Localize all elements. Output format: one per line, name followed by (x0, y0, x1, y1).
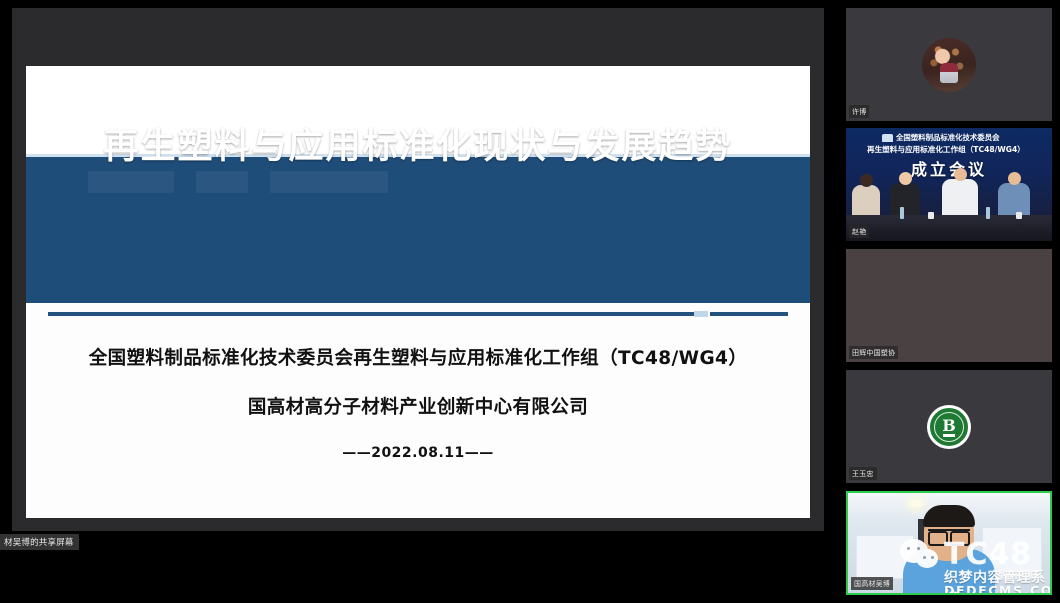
wechat-dot (907, 547, 910, 550)
room-banner-line2: 再生塑料与应用标准化工作组（TC48/WG4） (867, 144, 1025, 155)
slide-subtitle-line2: 国高材高分子材料产业创新中心有限公司 (26, 393, 810, 419)
participant-name: 赵艳 (849, 225, 869, 238)
participant-tile-1[interactable]: 全国塑料制品标准化技术委员会 再生塑料与应用标准化工作组（TC48/WG4） 成… (846, 128, 1052, 241)
band-decoration (270, 171, 388, 193)
band-decoration (88, 171, 174, 193)
participant-tile-4-active-speaker[interactable]: TC48 织梦内容管理系统 DEDECMS.COM 国高材吴博 (846, 491, 1052, 595)
slide-subtitle-line1: 全国塑料制品标准化技术委员会再生塑料与应用标准化工作组（TC48/WG4） (26, 344, 810, 370)
wechat-icon (900, 539, 940, 571)
shared-screen-content[interactable]: 再生塑料与应用标准化现状与发展趋势 全国塑料制品标准化技术委员会再生塑料与应用标… (12, 8, 824, 531)
committee-emblem-icon (882, 134, 893, 142)
divider-gap-mark (694, 311, 708, 317)
presentation-slide: 再生塑料与应用标准化现状与发展趋势 全国塑料制品标准化技术委员会再生塑料与应用标… (26, 66, 810, 518)
slide-title-band (26, 157, 810, 303)
wechat-dot (917, 547, 920, 550)
room-attendee (890, 183, 920, 215)
slide-title: 再生塑料与应用标准化现状与发展趋势 (26, 118, 810, 169)
participant-filmstrip[interactable]: 许博 全国塑料制品标准化技术委员会 再生塑料与应用标准化工作组（TC48/WG4… (838, 0, 1060, 603)
shared-screen-stage[interactable]: 再生塑料与应用标准化现状与发展趋势 全国塑料制品标准化技术委员会再生塑料与应用标… (0, 0, 838, 603)
organization-seal-icon: B (927, 405, 971, 449)
room-attendee (998, 183, 1030, 215)
participant-name: 王玉忠 (849, 467, 877, 480)
attendee-head (860, 174, 873, 187)
share-status-label: 材吴博的共享屏幕 (0, 534, 79, 550)
room-banner-line3: 成立会议 (846, 156, 1052, 180)
participant-tile-0[interactable]: 许博 (846, 8, 1052, 121)
wechat-bubble-small (916, 549, 938, 568)
room-attendee (852, 185, 880, 215)
participant-tile-3[interactable]: B 王玉忠 (846, 370, 1052, 483)
attendee-head (954, 168, 967, 181)
speaker-hair (923, 505, 975, 527)
water-bottle (986, 207, 990, 219)
slide-subtitle-block: 全国塑料制品标准化技术委员会再生塑料与应用标准化工作组（TC48/WG4） 国高… (26, 344, 810, 461)
water-bottle (900, 207, 904, 219)
seal-underbar (943, 434, 955, 437)
avatar (922, 38, 976, 92)
participant-name: 许博 (849, 105, 869, 118)
slide-date: ——2022.08.11—— (26, 445, 810, 461)
seal-glyph: B (942, 418, 956, 434)
conference-window: 再生塑料与应用标准化现状与发展趋势 全国塑料制品标准化技术委员会再生塑料与应用标… (0, 0, 1060, 603)
divider-segment-right (710, 312, 788, 316)
room-banner-line1: 全国塑料制品标准化技术委员会 (896, 132, 999, 143)
slide-divider (26, 309, 810, 319)
wechat-dot (923, 556, 926, 559)
wechat-dot (931, 556, 934, 559)
watermark-site: DEDECMS.COM (944, 583, 1052, 595)
tea-cup (1016, 212, 1022, 219)
ceiling-light (910, 500, 922, 507)
divider-segment-left (48, 312, 694, 316)
room-attendee (942, 179, 978, 215)
attendee-head (1008, 172, 1021, 185)
participant-tile-2[interactable]: 田辉中国塑协 (846, 249, 1052, 362)
participant-name: 国高材吴博 (851, 577, 893, 590)
tea-cup (928, 212, 934, 219)
attendee-head (899, 172, 912, 185)
seal-ring: B (929, 407, 969, 447)
band-decoration (196, 171, 248, 193)
participant-name: 田辉中国塑协 (849, 346, 898, 359)
